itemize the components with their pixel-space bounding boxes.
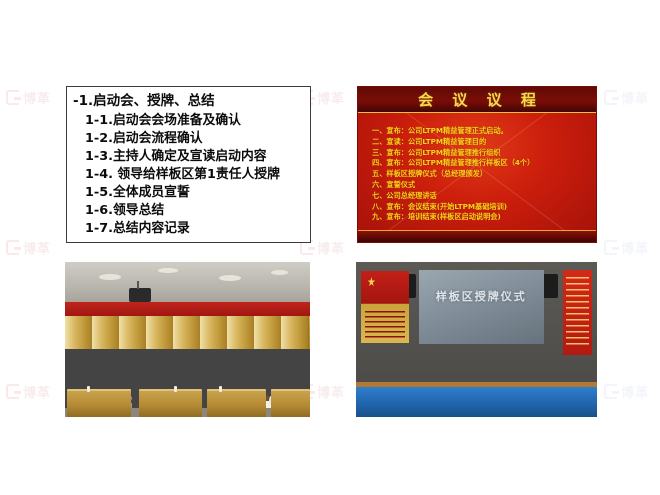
photo-award-content: 样板区授牌仪式 (356, 262, 597, 417)
watermark-text: 博革 (23, 88, 51, 107)
bg-logo-icon (6, 384, 19, 399)
agenda-item-8: 八、宣布：会议结束(开始LTPM基础培训) (372, 202, 596, 213)
agenda-item-5: 五、样板区授牌仪式（总经理颁发） (372, 169, 596, 180)
agenda-item-9: 九、宣布：培训结束(样板区启动说明会) (372, 212, 596, 223)
outline-item-5: 1-5.全体成员宣誓 (85, 184, 310, 202)
agenda-header-bar: 会 议 议 程 (358, 87, 596, 113)
agenda-footer-bar (358, 230, 596, 242)
outline-item-2: 1-2.启动会流程确认 (85, 130, 310, 148)
bg-logo-icon (604, 90, 617, 105)
bg-logo-icon (604, 384, 617, 399)
outline-title: -1.启动会、授牌、总结 (73, 93, 310, 110)
outline-item-4: 1-4. 领导给样板区第1责任人授牌 (85, 166, 310, 184)
projection-screen-text: 样板区授牌仪式 (419, 288, 544, 304)
star-icon (368, 277, 376, 287)
watermark-layer: 博革 博革 博革 博革 博革 博革 博革 博革 博革 (0, 0, 660, 495)
watermark-text: 博革 (317, 88, 345, 107)
speaker-icon (542, 274, 559, 297)
watermark-logo: 博革 (604, 238, 649, 257)
bg-logo-icon (6, 90, 19, 105)
hall-tables (65, 391, 310, 417)
agenda-slide-image: 会 议 议 程 一、宣布：公司LTPM精益管理正式启动。 二、宣读：公司LTPM… (357, 86, 597, 243)
hall-ceiling (65, 262, 310, 304)
watermark-text: 博革 (23, 238, 51, 257)
agenda-item-2: 二、宣读：公司LTPM精益管理目的 (372, 137, 596, 148)
watermark-text: 博革 (23, 382, 51, 401)
watermark-logo: 博革 (604, 382, 649, 401)
watermark-text: 博革 (317, 238, 345, 257)
bg-logo-icon (6, 240, 19, 255)
agenda-item-4: 四、宣布：公司LTPM精益管理推行样板区（4个） (372, 158, 596, 169)
bg-logo-icon (604, 240, 617, 255)
agenda-item-7: 七、公司总经理讲话 (372, 191, 596, 202)
projector-icon (129, 288, 151, 302)
outline-item-6: 1-6.领导总结 (85, 202, 310, 220)
outline-item-1: 1-1.启动会会场准备及确认 (85, 112, 310, 130)
outline-text-box: -1.启动会、授牌、总结 1-1.启动会会场准备及确认 1-2.启动会流程确认 … (66, 86, 311, 243)
watermark-text: 博革 (621, 88, 649, 107)
watermark-logo: 博革 (6, 238, 51, 257)
agenda-item-1: 一、宣布：公司LTPM精益管理正式启动。 (372, 126, 596, 137)
watermark-logo: 博革 (604, 88, 649, 107)
agenda-item-6: 六、宣誓仪式 (372, 180, 596, 191)
photo-oath-content (65, 262, 310, 417)
agenda-item-list: 一、宣布：公司LTPM精益管理正式启动。 二、宣读：公司LTPM精益管理目的 三… (358, 118, 596, 223)
watermark-text: 博革 (317, 382, 345, 401)
hall-attendees (65, 340, 310, 396)
watermark-logo: 博革 (6, 382, 51, 401)
watermark-text: 博革 (621, 238, 649, 257)
photo-award-ceremony: 样板区授牌仪式 (356, 262, 597, 417)
outline-item-3: 1-3.主持人确定及宣读启动内容 (85, 148, 310, 166)
agenda-header-title: 会 议 议 程 (411, 89, 543, 110)
outline-item-7: 1-7.总结内容记录 (85, 220, 310, 238)
watermark-text: 博革 (621, 382, 649, 401)
photo-oath-ceremony (65, 262, 310, 417)
award-front-table (356, 386, 597, 417)
watermark-logo: 博革 (6, 88, 51, 107)
agenda-item-3: 三、宣布：公司LTPM精益管理推行组织 (372, 148, 596, 159)
